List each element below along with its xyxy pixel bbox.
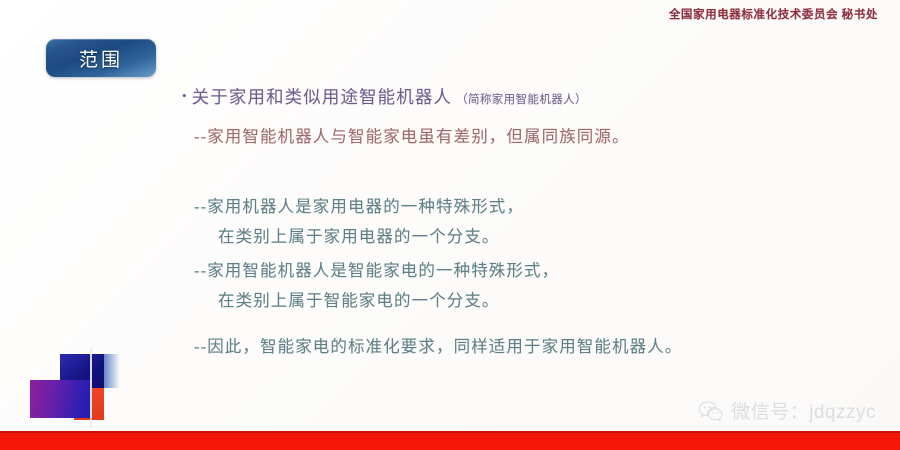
bullet-main-text: 关于家用和类似用途智能机器人 (192, 87, 452, 107)
bottom-red-bar (0, 431, 900, 450)
wechat-icon (698, 400, 724, 422)
deco-vertical-line (90, 348, 92, 428)
slide-body: •关于家用和类似用途智能机器人（简称家用智能机器人） --家用智能机器人与智能家… (182, 84, 882, 363)
bullet-dot-icon: • (182, 88, 188, 104)
paragraph-spacer (182, 157, 882, 193)
content-line-teal-3: --家用智能机器人是智能家电的一种特殊形式， (194, 257, 882, 281)
section-title-text: 范围 (79, 45, 123, 72)
content-line-teal-2: 在类别上属于家用电器的一个分支。 (218, 223, 882, 247)
header-organization-label: 全国家用电器标准化技术委员会 秘书处 (669, 6, 878, 22)
slide-canvas: 全国家用电器标准化技术委员会 秘书处 范围 •关于家用和类似用途智能机器人（简称… (0, 0, 900, 450)
content-line-rose-1: --家用智能机器人与智能家电虽有差别，但属同族同源。 (194, 123, 882, 147)
content-line-teal-1: --家用机器人是家用电器的一种特殊形式， (194, 193, 882, 217)
bullet-note-text: （简称家用智能机器人） (456, 94, 587, 106)
deco-purple-rect (30, 380, 92, 418)
decorative-blocks-graphic (28, 348, 120, 428)
content-line-teal-4: 在类别上属于智能家电的一个分支。 (218, 287, 882, 311)
wechat-watermark-text: 微信号：jdqzzyc (731, 397, 876, 424)
content-line-teal-5: --因此，智能家电的标准化要求，同样适用于家用智能机器人。 (194, 333, 882, 357)
paragraph-spacer-small (182, 321, 882, 333)
wechat-watermark: 微信号：jdqzzyc (698, 397, 876, 424)
bullet-item-main: •关于家用和类似用途智能机器人（简称家用智能机器人） (182, 84, 882, 109)
section-title-pill: 范围 (46, 39, 156, 77)
